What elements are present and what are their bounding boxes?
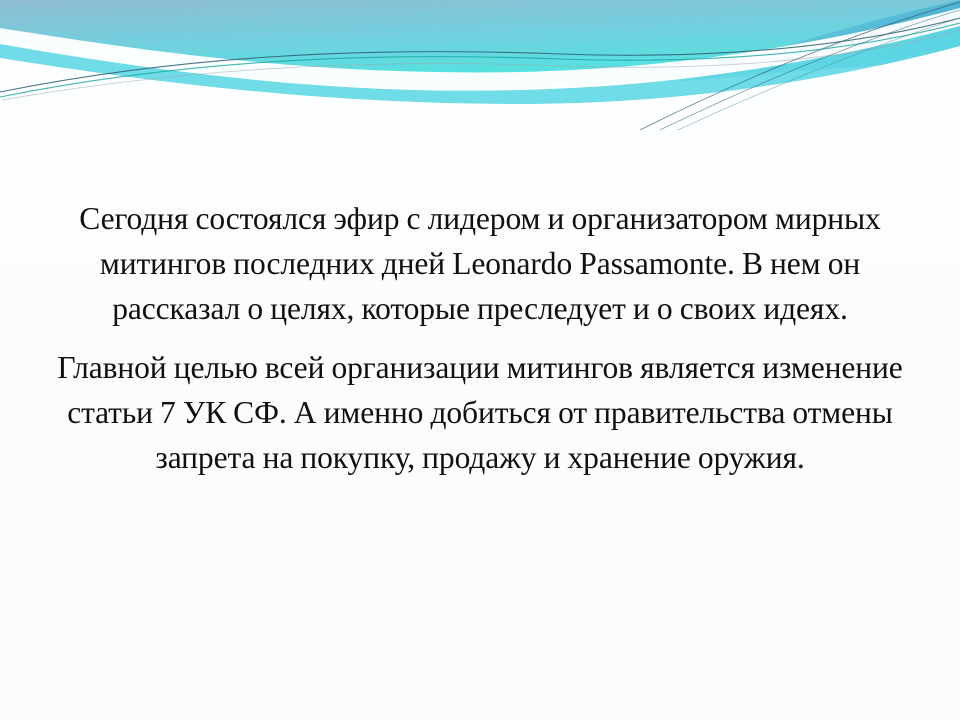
decorative-banner: [0, 0, 960, 130]
slide-body-text: Сегодня состоялся эфир с лидером и орган…: [46, 196, 914, 480]
presentation-slide: Сегодня состоялся эфир с лидером и орган…: [0, 0, 960, 720]
banner-wave-graphic: [0, 0, 960, 130]
body-paragraph-1: Сегодня состоялся эфир с лидером и орган…: [46, 196, 914, 331]
body-paragraph-2: Главной целью всей организации митингов …: [46, 345, 914, 480]
